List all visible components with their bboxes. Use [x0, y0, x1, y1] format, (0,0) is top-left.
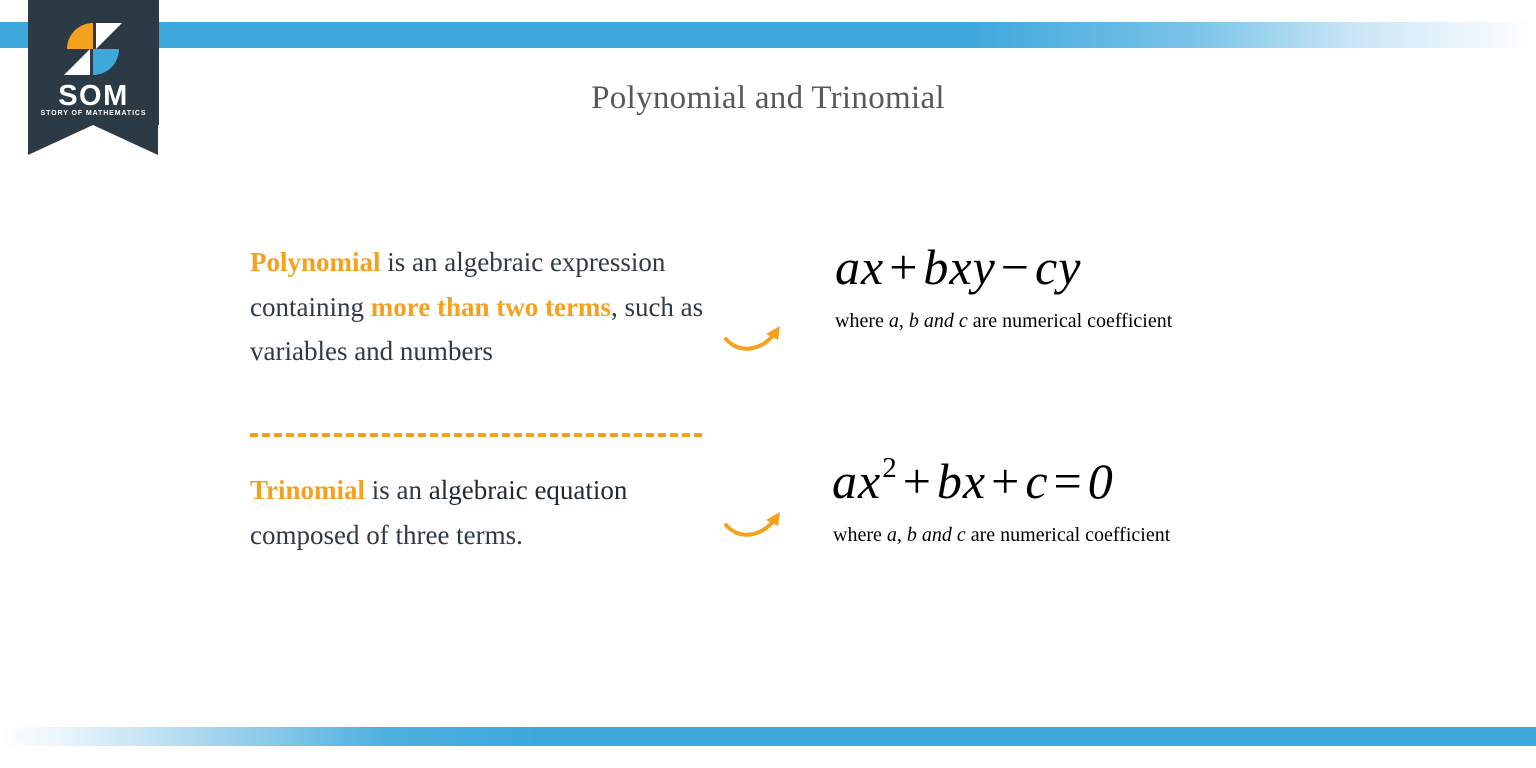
definition-part1-trinomial: is an [365, 475, 429, 505]
som-s-mark-icon [60, 19, 126, 79]
page-title: Polynomial and Trinomial [0, 80, 1536, 117]
note-suffix-2: are numerical coefficient [966, 524, 1171, 546]
curved-arrow-right-icon-1 [722, 320, 790, 360]
formula-note-trinomial: where a, b and c are numerical coefficie… [833, 524, 1170, 547]
formula-operator-1: + [884, 239, 923, 295]
definition-emphasis-trinomial: algebraic equation [429, 475, 628, 505]
top-accent-bar [0, 22, 1536, 48]
banner-chevron-point [28, 125, 158, 155]
note-prefix-2: where [833, 524, 887, 546]
formula-operator-2: + [986, 453, 1025, 509]
formula-note-polynomial: where a, b and c are numerical coefficie… [835, 310, 1172, 333]
note-italic-1: a, b and c [889, 310, 968, 332]
curved-arrow-right-icon-2 [722, 508, 790, 548]
note-italic-2: a, b and c [887, 524, 966, 546]
definition-emphasis-polynomial: more than two terms [371, 292, 611, 322]
formula-term-1: ax [835, 239, 884, 295]
definition-part2-trinomial: composed of three terms. [250, 520, 523, 550]
formula-term-3: c [1025, 453, 1048, 509]
formula-polynomial: ax+bxy−cy [835, 238, 1081, 296]
formula-term-3: cy [1035, 239, 1081, 295]
formula-term-4: 0 [1088, 453, 1114, 509]
bottom-accent-bar [0, 727, 1536, 746]
formula-trinomial: ax2+bx+c=0 [832, 452, 1114, 510]
term-polynomial: Polynomial [250, 247, 381, 277]
formula-term-2: bx [937, 453, 986, 509]
formula-term-1: ax [832, 453, 881, 509]
section-divider [250, 433, 702, 437]
note-suffix-1: are numerical coefficient [968, 310, 1173, 332]
definition-text-polynomial: Polynomial is an algebraic expression co… [250, 240, 750, 374]
definition-text-trinomial: Trinomial is an algebraic equation compo… [250, 468, 720, 557]
formula-operator-1: + [898, 453, 937, 509]
formula-operator-2: − [996, 239, 1035, 295]
formula-operator-3: = [1049, 453, 1088, 509]
note-prefix-1: where [835, 310, 889, 332]
brand-logo-banner: SOM STORY OF MATHEMATICS [28, 0, 159, 155]
formula-term-2: bxy [923, 239, 995, 295]
formula-exponent-1: 2 [881, 452, 898, 484]
term-trinomial: Trinomial [250, 475, 365, 505]
